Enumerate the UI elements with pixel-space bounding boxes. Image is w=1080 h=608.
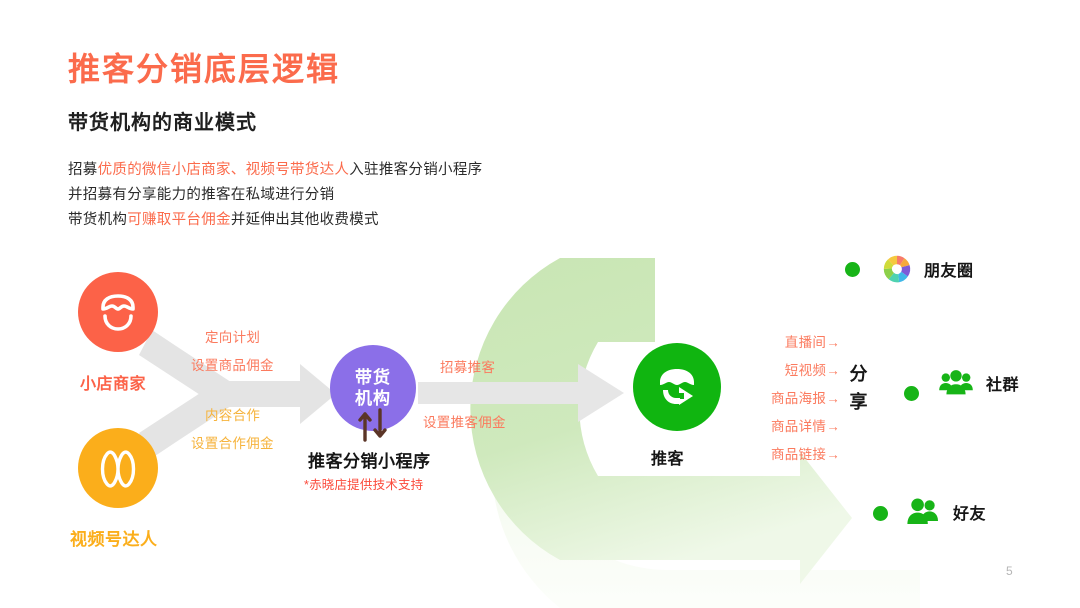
node-agency-line2: 机构 (355, 388, 391, 409)
share-channel-item-3: 商品详情→ (744, 413, 840, 441)
share-channel-item-1: 短视频→ (744, 357, 840, 385)
node-agency-text: 带货 机构 (355, 367, 391, 409)
node-label-agency-app: 推客分销小程序 (308, 447, 431, 472)
connector-dot-group (904, 386, 919, 401)
node-promoter[interactable] (633, 343, 721, 431)
connector-dot-moments (845, 262, 860, 277)
arrow-label-org-bottom: 设置推客佣金 (423, 411, 506, 431)
arrow-label-org-top: 招募推客 (440, 356, 495, 376)
node-agency-line1: 带货 (355, 367, 391, 388)
destination-label-group: 社群 (986, 371, 1019, 395)
slide-canvas: 推客分销底层逻辑 带货机构的商业模式 招募优质的微信小店商家、视频号带货达人入驻… (0, 0, 1080, 608)
destination-label-friend: 好友 (953, 500, 986, 524)
share-channel-list: 直播间→ 短视频→ 商品海报→ 商品详情→ 商品链接→ (744, 329, 840, 469)
share-channel-item-4: 商品链接→ (744, 441, 840, 469)
destination-friend[interactable]: 好友 (905, 497, 986, 527)
node-label-shop: 小店商家 (80, 370, 146, 394)
node-wechat-store[interactable] (78, 272, 158, 352)
group-people-icon (938, 368, 974, 398)
share-channel-item-2: 商品海报→ (744, 385, 840, 413)
arrow-label-shop-bottom: 设置商品佣金 (191, 354, 274, 374)
arrow-label-channels-bottom: 设置合作佣金 (191, 432, 274, 452)
moments-pinwheel-icon (882, 254, 912, 284)
up-down-arrow-icon (356, 408, 396, 442)
destination-group[interactable]: 社群 (938, 368, 1019, 398)
node-note-agency-app: *赤晓店提供技术支持 (304, 474, 423, 493)
wechat-channels-icon (91, 441, 145, 495)
node-label-channels: 视频号达人 (70, 525, 158, 550)
store-share-icon (647, 357, 707, 417)
connector-dot-friend (873, 506, 888, 521)
node-label-promoter: 推客 (651, 445, 684, 469)
page-number: 5 (1006, 564, 1013, 578)
wechat-store-icon (91, 285, 145, 339)
arrow-label-channels-top: 内容合作 (205, 404, 260, 424)
node-wechat-channels[interactable] (78, 428, 158, 508)
arrow-label-shop-top: 定向计划 (205, 326, 260, 346)
friends-people-icon (905, 497, 941, 527)
share-channel-item-0: 直播间→ (744, 329, 840, 357)
destination-label-moments: 朋友圈 (924, 257, 974, 281)
share-label: 分享 (847, 360, 871, 416)
destination-moments[interactable]: 朋友圈 (882, 254, 974, 284)
